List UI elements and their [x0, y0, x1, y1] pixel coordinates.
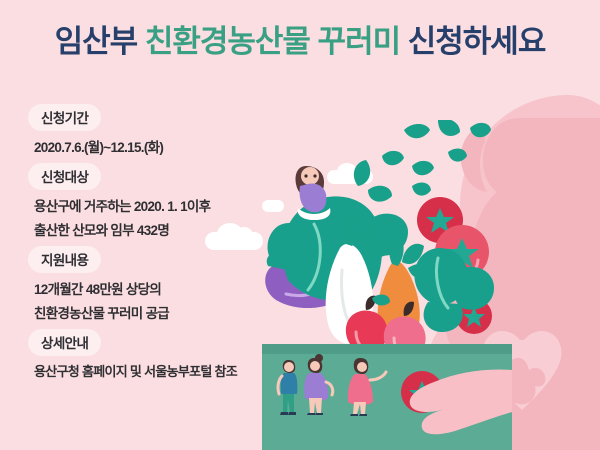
- section-line: 2020.7.6.(월)~12.15.(화): [34, 136, 328, 156]
- section-support-content: 지원내용 12개월간 48만원 상당의 친환경농산물 꾸러미 공급: [28, 246, 328, 322]
- poster-canvas: 임산부 친환경농산물 꾸러미 신청하세요 신청기간 2020.7.6.(월)~1…: [0, 0, 600, 450]
- section-application-period: 신청기간 2020.7.6.(월)~12.15.(화): [28, 104, 328, 156]
- floating-leaves: [354, 120, 491, 202]
- section-line: 용산구청 홈페이지 및 서울농부포털 참조: [34, 361, 328, 380]
- title-part-1: 임산부: [55, 24, 138, 59]
- section-line: 친환경농산물 꾸러미 공급: [34, 302, 328, 322]
- section-label: 지원내용: [28, 246, 101, 273]
- section-label: 상세안내: [28, 329, 101, 356]
- info-block: 신청기간 2020.7.6.(월)~12.15.(화) 신청대상 용산구에 거주…: [28, 104, 328, 387]
- section-label: 신청기간: [28, 104, 101, 131]
- section-line: 용산구에 거주하는 2020. 1. 1이후: [34, 195, 328, 215]
- section-eligibility: 신청대상 용산구에 거주하는 2020. 1. 1이후 출산한 산모와 임부 4…: [28, 163, 328, 239]
- title-part-3: 신청하세요: [408, 24, 546, 59]
- section-label: 신청대상: [28, 163, 101, 190]
- title-part-2: 친환경농산물 꾸러미: [145, 24, 400, 59]
- section-line: 출산한 산모와 임부 432명: [34, 219, 328, 239]
- lady-figure: [348, 358, 386, 416]
- section-details: 상세안내 용산구청 홈페이지 및 서울농부포털 참조: [28, 329, 328, 380]
- section-line: 12개월간 48만원 상당의: [34, 278, 328, 298]
- page-title: 임산부 친환경농산물 꾸러미 신청하세요: [0, 26, 600, 57]
